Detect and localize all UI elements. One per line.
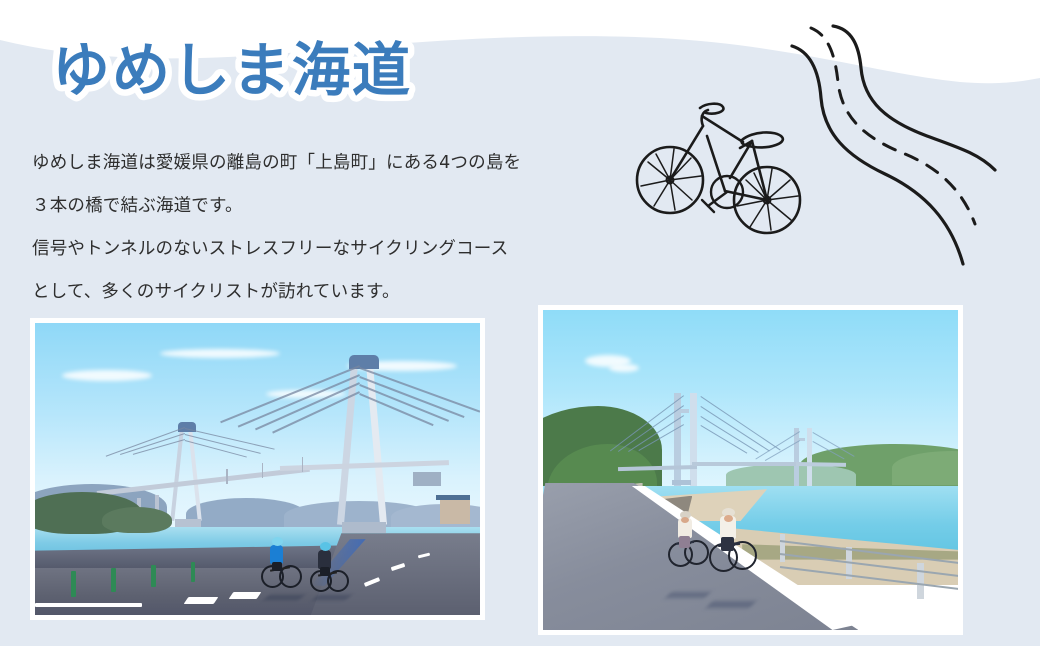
overhead-sign xyxy=(413,472,441,486)
shadow xyxy=(264,595,305,600)
photo-right-canvas xyxy=(543,310,958,630)
delineator-post xyxy=(191,562,195,582)
shadow xyxy=(313,595,352,600)
delineator-post xyxy=(71,571,76,597)
intro-line-2: ３本の橋で結ぶ海道です。 xyxy=(32,185,652,228)
lamp-post xyxy=(302,457,303,472)
page-title: ゆめしま海道 ゆめしま海道 xyxy=(48,28,478,114)
cyclist xyxy=(260,533,300,595)
page-title-text: ゆめしま海道 xyxy=(52,36,412,104)
cyclist xyxy=(709,499,755,579)
rider-face xyxy=(681,517,689,523)
cyclist xyxy=(668,502,708,574)
headland-trees xyxy=(102,507,172,533)
lamp-post xyxy=(226,469,227,484)
photo-bridge-cyclists-right xyxy=(538,305,963,635)
intro-line-1: ゆめしま海道は愛媛県の離島の町「上島町」にある4つの島を xyxy=(32,142,652,185)
page-root: ゆめしま海道 ゆめしま海道 ゆめしま海道は愛媛県の離島の町「上島町」にある4つの… xyxy=(0,0,1040,646)
lane-dash xyxy=(184,597,219,604)
guard-post xyxy=(917,563,924,599)
delineator-post xyxy=(151,565,156,587)
bridge-pylon-base xyxy=(175,519,201,527)
shadow xyxy=(706,601,756,608)
bridge-deck xyxy=(796,462,846,467)
photo-bridge-cyclists-left xyxy=(30,318,485,620)
lane-line xyxy=(35,603,142,607)
photo-left-canvas xyxy=(35,323,480,615)
shadow xyxy=(665,592,710,598)
far-hill xyxy=(726,464,856,486)
bridge-deck xyxy=(692,462,800,466)
lamp-post xyxy=(262,463,263,478)
bridge-pylon-leg xyxy=(690,393,697,486)
rider-helmet xyxy=(320,542,331,551)
cloud xyxy=(62,370,152,381)
rider-legs xyxy=(272,562,282,571)
bridge-pylon-leg xyxy=(807,428,812,486)
bridge-pylon-base xyxy=(672,480,691,485)
rider-legs xyxy=(679,536,690,548)
rider-face xyxy=(724,515,733,522)
bridge-pylon-base xyxy=(342,522,386,533)
intro-line-3: 信号やトンネルのないストレスフリーなサイクリングコース xyxy=(32,228,652,271)
cyclist xyxy=(309,539,349,599)
guard-post xyxy=(780,534,785,562)
rider-legs xyxy=(320,567,330,576)
building xyxy=(440,498,470,524)
rider-helmet xyxy=(272,537,283,546)
delineator-post xyxy=(111,568,116,592)
rider-legs xyxy=(721,537,734,551)
lane-dash xyxy=(228,592,261,599)
building-roof xyxy=(436,495,470,500)
intro-paragraph: ゆめしま海道は愛媛県の離島の町「上島町」にある4つの島を ３本の橋で結ぶ海道です… xyxy=(32,142,652,314)
bicycle-icon xyxy=(630,96,830,244)
